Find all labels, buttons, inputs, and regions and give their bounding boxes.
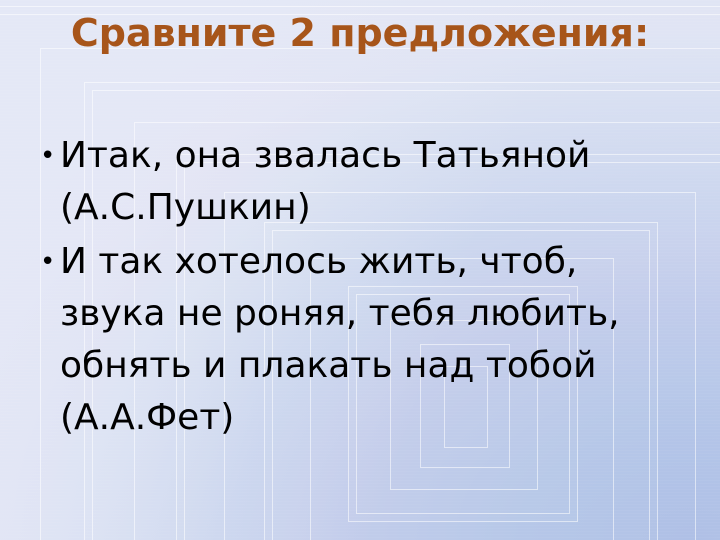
slide-content: Сравните 2 предложения: • Итак, она звал… bbox=[0, 0, 720, 540]
list-item: • И так хотелось жить, чтоб, звука не ро… bbox=[30, 236, 690, 444]
slide-body-list: • Итак, она звалась Татьяной (А.С.Пушкин… bbox=[30, 130, 690, 446]
list-item: • Итак, она звалась Татьяной (А.С.Пушкин… bbox=[30, 130, 690, 234]
list-item-text: Итак, она звалась Татьяной (А.С.Пушкин) bbox=[60, 130, 690, 234]
slide-title: Сравните 2 предложения: bbox=[36, 10, 684, 56]
list-item-text: И так хотелось жить, чтоб, звука не роня… bbox=[60, 236, 690, 444]
bullet-point-icon: • bbox=[30, 236, 60, 288]
presentation-slide: Сравните 2 предложения: • Итак, она звал… bbox=[0, 0, 720, 540]
bullet-point-icon: • bbox=[30, 130, 60, 182]
